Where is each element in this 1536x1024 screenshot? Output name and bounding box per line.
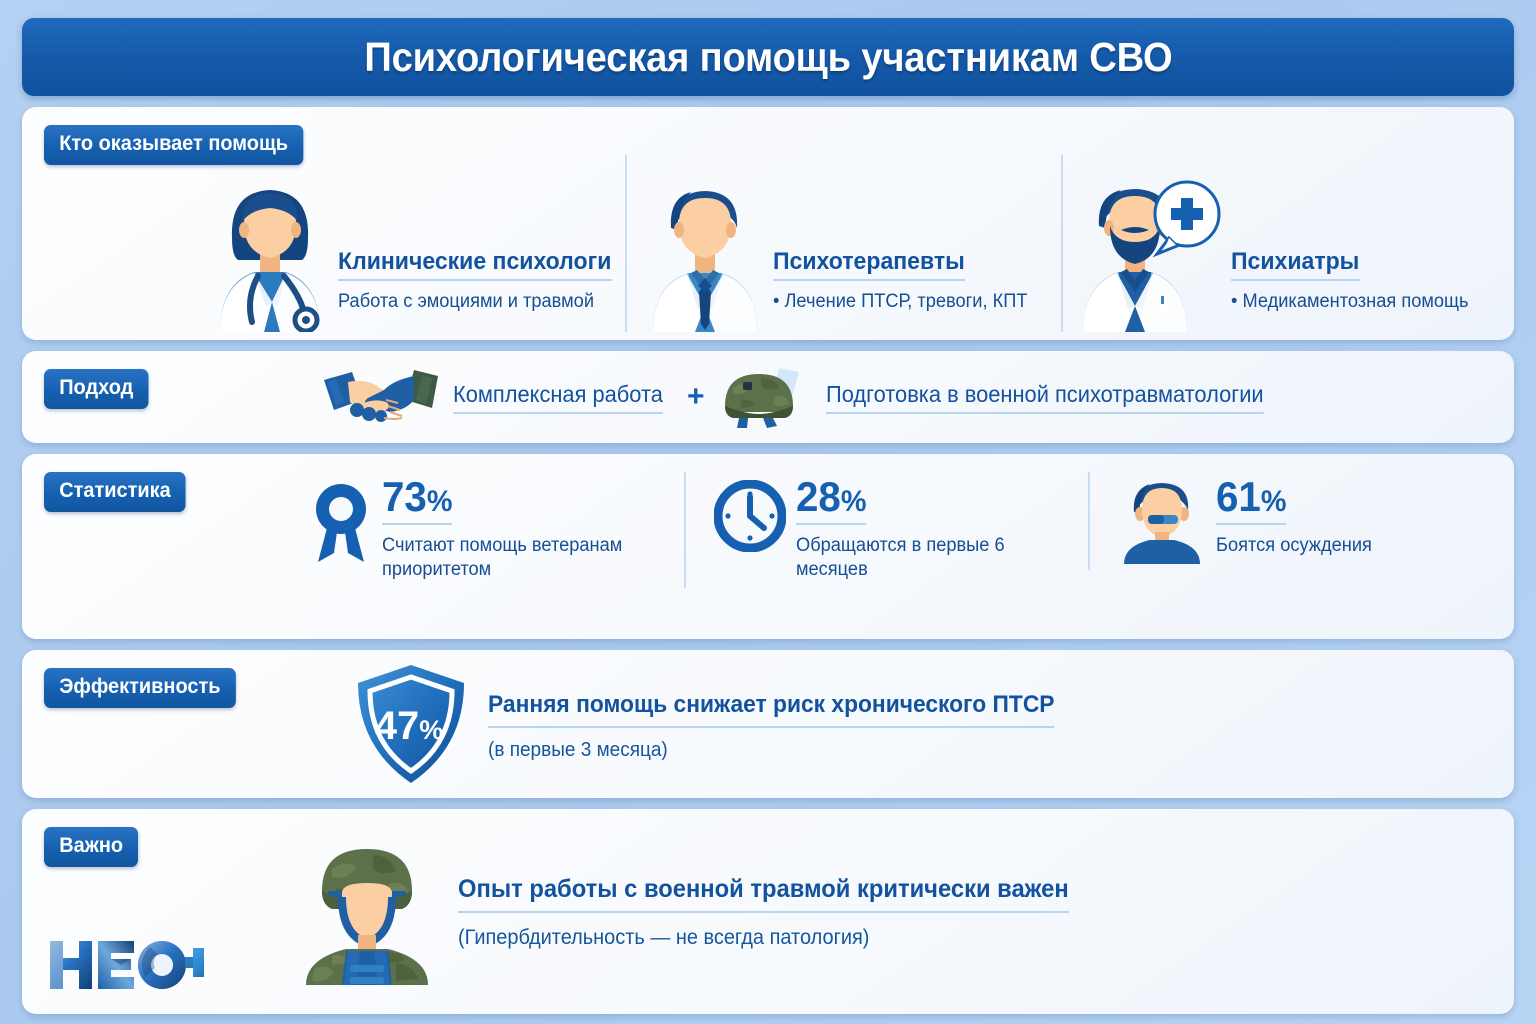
provider-title: Психиатры (1231, 249, 1359, 281)
award-ribbon-icon (310, 480, 372, 566)
stat-unit: % (1261, 485, 1287, 518)
section-badge-effectiveness: Эффективность (44, 668, 236, 708)
page-title: Психологическая помощь участникам СВО (364, 34, 1172, 81)
effectiveness-note: (в первые 3 месяца) (488, 739, 1054, 762)
stat-value: 73% (382, 478, 452, 525)
important-headline: Опыт работы с военной травмой критически… (458, 875, 1069, 913)
provider-subtitle: Работа с эмоциями и травмой (338, 290, 611, 314)
clock-icon (714, 480, 786, 552)
provider-psychiatrists: Психиатры • Медикаментозная помощь (1061, 155, 1496, 332)
stat-value: 61% (1216, 478, 1286, 525)
approach-connector: + (687, 380, 705, 414)
bearded-psychiatrist-icon (1077, 172, 1227, 332)
provider-subtitle: • Лечение ПТСР, тревоги, КПТ (773, 290, 1028, 314)
shield-icon: 47% (352, 661, 470, 787)
stat-unit: % (427, 485, 453, 518)
section-badge-statistics: Статистика (44, 472, 186, 512)
stat-item-priority: 73% Считают помощь ветеранам приоритетом (282, 472, 684, 588)
stat-unit: % (841, 485, 867, 518)
neo-plus-logo-icon (46, 935, 204, 995)
important-content: Опыт работы с военной травмой критически… (292, 809, 1494, 1014)
approach-content: Комплексная работа + Подгот (322, 351, 1496, 443)
shield-unit: % (419, 715, 443, 745)
female-psychologist-icon (206, 172, 334, 332)
provider-text: Психотерапевты • Лечение ПТСР, тревоги, … (773, 249, 1038, 332)
statistics-list: 73% Считают помощь ветеранам приоритетом (282, 472, 1492, 629)
providers-list: Клинические психологи Работа с эмоциями … (192, 155, 1496, 332)
page-header: Психологическая помощь участникам СВО (22, 18, 1514, 96)
silenced-person-icon (1118, 480, 1206, 564)
bullet-marker: • (773, 291, 779, 312)
effectiveness-headline: Ранняя помощь снижает риск хронического … (488, 691, 1054, 728)
section-effectiveness: Эффективность 47% Ранняя помощь снижает … (22, 650, 1514, 798)
section-providers: Кто оказывает помощь (22, 107, 1514, 340)
stat-number: 61 (1216, 473, 1261, 520)
stat-caption: Боятся осуждения (1216, 534, 1372, 558)
section-badge-approach: Подход (44, 369, 149, 409)
provider-title: Клинические психологи (338, 249, 611, 281)
section-badge-important: Важно (44, 827, 138, 867)
section-approach: Подход (22, 351, 1514, 443)
effectiveness-text: Ранняя помощь снижает риск хронического … (488, 687, 1084, 762)
brand-logo (46, 935, 204, 1000)
stat-value: 28% (796, 478, 866, 525)
provider-subtitle-text: Медикаментозная помощь (1242, 291, 1468, 312)
military-helmet-icon (717, 366, 813, 428)
bullet-marker: • (1231, 291, 1237, 312)
effectiveness-content: 47% Ранняя помощь снижает риск хроническ… (352, 650, 1494, 798)
handshake-icon (322, 366, 440, 428)
provider-clinical-psychologists: Клинические психологи Работа с эмоциями … (192, 155, 625, 332)
soldier-icon (292, 839, 442, 985)
stat-number: 28 (796, 473, 841, 520)
stat-item-fear-of-judgement: 61% Боятся осуждения (1088, 472, 1492, 570)
approach-right-label: Подготовка в военной психотравматологии (826, 381, 1264, 414)
provider-subtitle-text: Лечение ПТСР, тревоги, КПТ (785, 291, 1028, 312)
important-text: Опыт работы с военной травмой критически… (458, 873, 1101, 950)
stat-number: 73 (382, 473, 427, 520)
approach-left-label: Комплексная работа (453, 381, 663, 414)
provider-psychotherapists: Психотерапевты • Лечение ПТСР, тревоги, … (625, 155, 1060, 332)
stat-text: 28% Обращаются в первые 6 месяцев (796, 478, 1088, 582)
stat-caption: Обращаются в первые 6 месяцев (796, 534, 1076, 583)
provider-title: Психотерапевты (773, 249, 965, 281)
stat-caption: Считают помощь ветеранам приоритетом (382, 534, 672, 583)
section-badge-providers: Кто оказывает помощь (44, 125, 303, 165)
shield-number: 47 (375, 704, 420, 748)
provider-subtitle: • Медикаментозная помощь (1231, 290, 1469, 314)
stat-text: 73% Считают помощь ветеранам приоритетом (382, 478, 684, 582)
important-note: (Гипербдительность — не всегда патология… (458, 926, 1069, 950)
stat-text: 61% Боятся осуждения (1216, 478, 1378, 558)
stat-item-first-six-months: 28% Обращаются в первые 6 месяцев (684, 472, 1088, 588)
section-important: Важно (22, 809, 1514, 1014)
male-therapist-icon (641, 172, 769, 332)
section-statistics: Статистика 73% Считают помощь ветеранам … (22, 454, 1514, 639)
provider-text: Психиатры • Медикаментозная помощь (1231, 249, 1478, 332)
infographic-page: Психологическая помощь участникам СВО Кт… (0, 0, 1536, 1024)
provider-text: Клинические психологи Работа с эмоциями … (338, 249, 623, 332)
